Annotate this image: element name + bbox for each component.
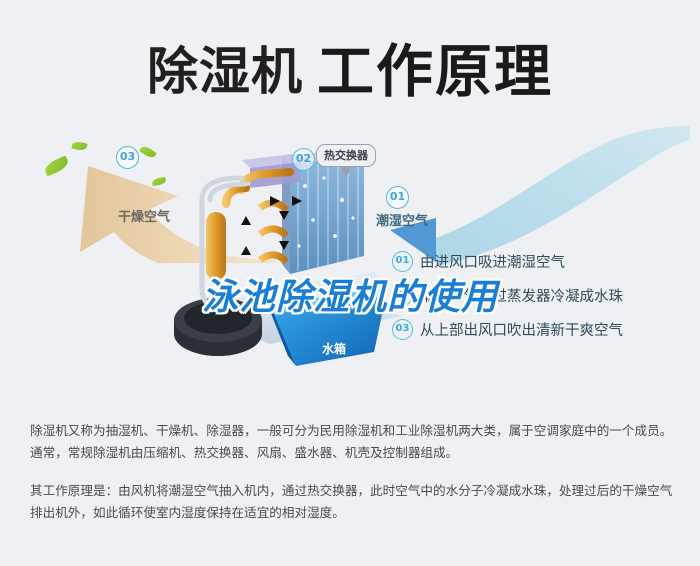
page-title: 除湿机工作原理	[0, 26, 700, 108]
dehumidifier-machine-illustration	[150, 138, 420, 388]
paragraph-1: 除湿机又称为抽湿机、干燥机、除湿器，一般可分为民用除湿机和工业除湿机两大类，属于…	[30, 420, 675, 464]
diagram-badge-02: 02	[292, 148, 315, 171]
water-tank-label: 水箱	[322, 340, 346, 357]
title-part-2: 工作原理	[317, 39, 553, 105]
watermark-overlay-text: 泳池除湿机的使用	[0, 268, 700, 320]
body-copy: 除湿机又称为抽湿机、干燥机、除湿器，一般可分为民用除湿机和工业除湿机两大类，属于…	[30, 420, 675, 540]
step-text-03: 从上部出风口吹出清新干爽空气	[420, 319, 623, 340]
heat-exchanger-label: 热交换器	[324, 149, 368, 162]
title-part-1: 除湿机	[147, 43, 303, 102]
heat-exchanger-callout: 热交换器	[316, 144, 376, 167]
paragraph-2: 其工作原理是：由风机将潮湿空气抽入机内，通过热交换器，此时空气中的水分子冷凝成水…	[30, 480, 675, 524]
step-badge-03: 03	[392, 319, 413, 340]
diagram-badge-01: 01	[386, 186, 409, 209]
dry-air-label: 干燥空气	[118, 206, 170, 225]
humid-air-label: 潮湿空气	[376, 210, 428, 229]
infographic-page: 除湿机工作原理	[0, 0, 700, 566]
diagram-badge-03: 03	[116, 146, 139, 169]
